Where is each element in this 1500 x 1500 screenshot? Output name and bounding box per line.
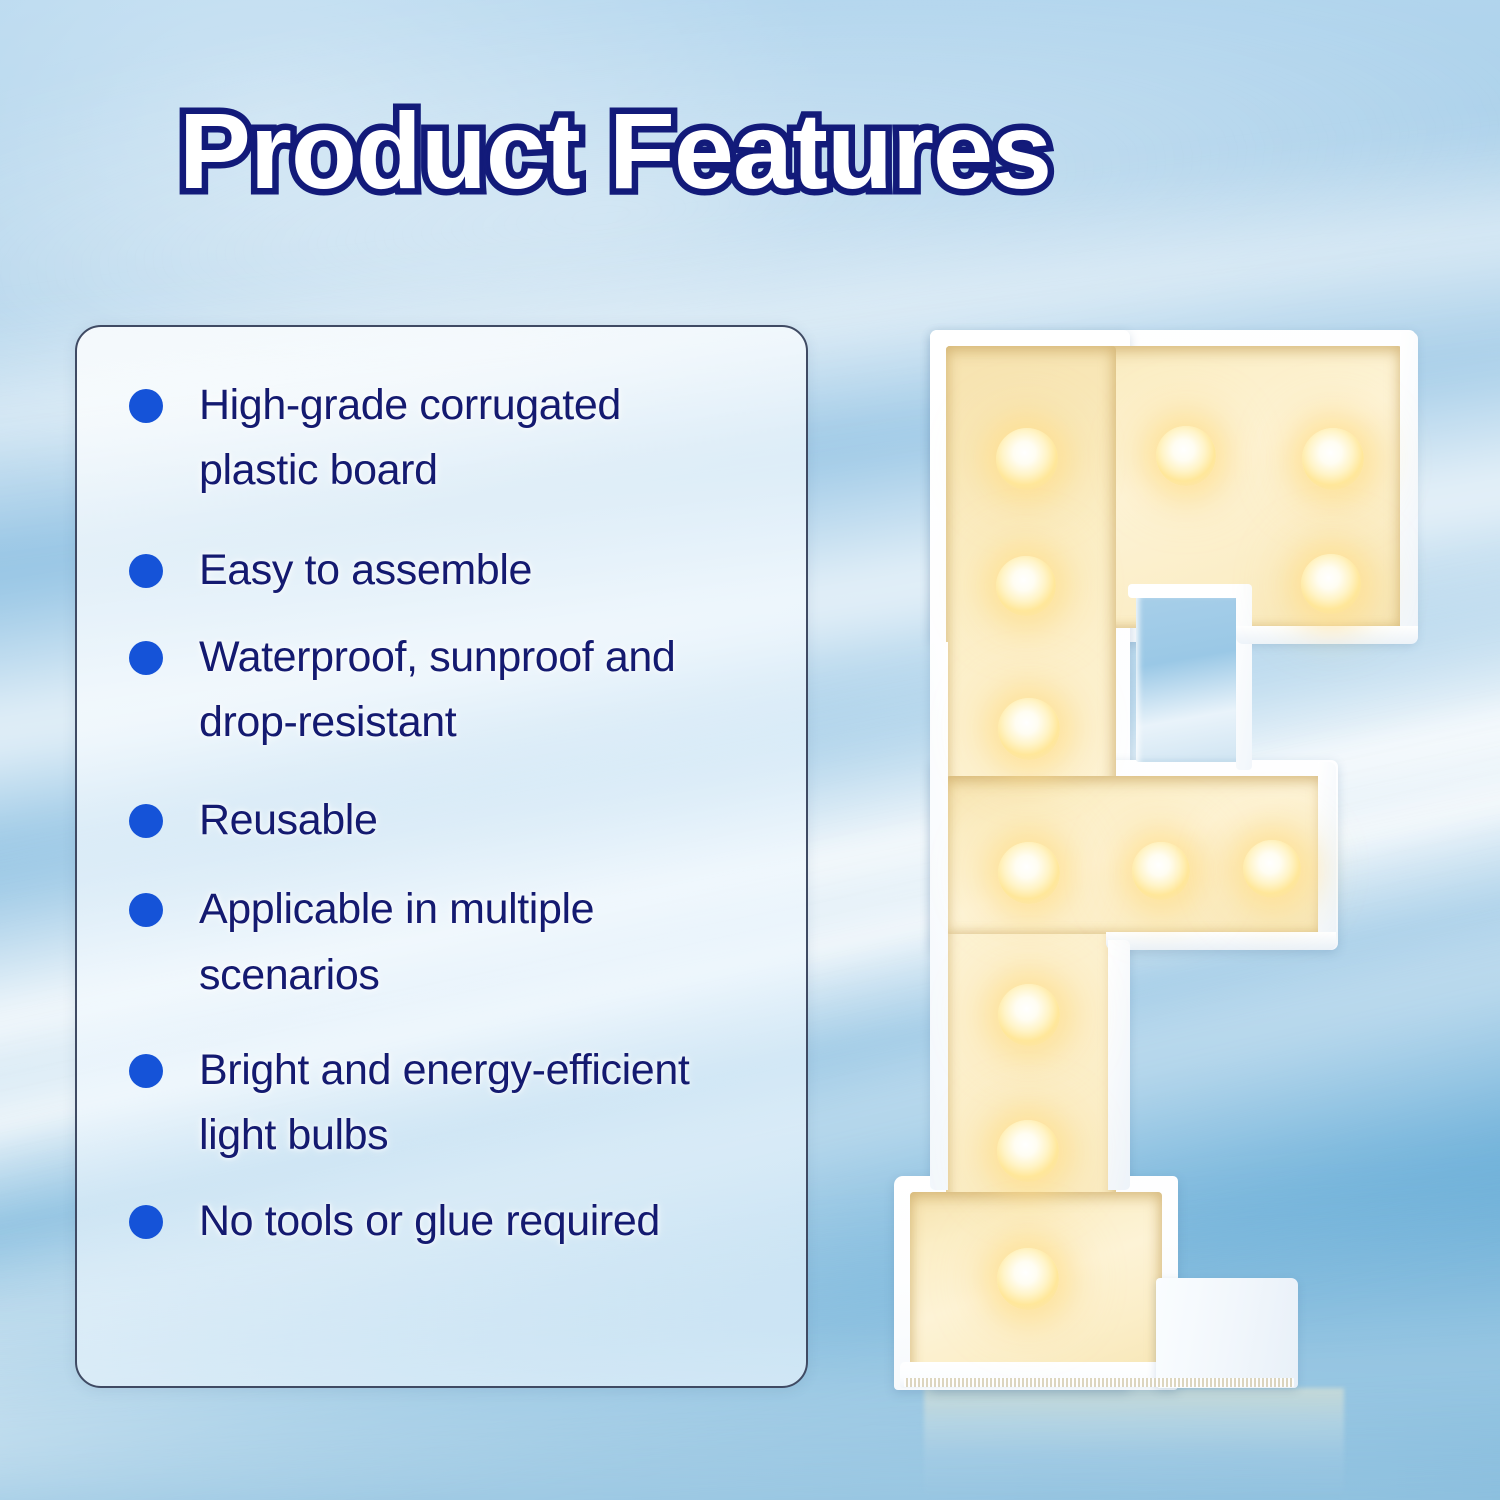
led-bulb	[1302, 428, 1364, 490]
list-item: Waterproof, sunproof and drop-resistant	[129, 625, 778, 756]
product-base-block	[1156, 1278, 1298, 1388]
corrugated-edge-texture	[904, 1378, 1294, 1387]
feature-text: Applicable in multiple scenarios	[199, 877, 594, 1008]
feature-text: High-grade corrugated plastic board	[199, 373, 621, 504]
bullet-dot-icon	[129, 1205, 163, 1239]
led-bulb	[998, 842, 1060, 904]
led-bulb	[996, 556, 1056, 616]
list-item: High-grade corrugated plastic board	[129, 373, 778, 504]
led-bulb	[997, 1120, 1059, 1182]
letter-notch-rim-right	[1236, 584, 1252, 770]
list-item: Easy to assemble	[129, 538, 778, 603]
background-scene: Product Features High-grade corrugated p…	[0, 0, 1500, 1500]
letter-notch-rim	[1128, 584, 1250, 598]
led-bulb	[1301, 554, 1361, 614]
led-bulb	[1156, 426, 1216, 486]
letter-middle-arm-bottom-rim	[1106, 932, 1336, 950]
bullet-dot-icon	[129, 893, 163, 927]
feature-text: Reusable	[199, 788, 377, 853]
led-bulb	[997, 1248, 1059, 1310]
bullet-dot-icon	[129, 641, 163, 675]
bullet-dot-icon	[129, 804, 163, 838]
bullet-dot-icon	[129, 389, 163, 423]
page-title: Product Features	[0, 97, 1230, 205]
product-image-marquee-letter-f	[880, 320, 1440, 1500]
list-item: Applicable in multiple scenarios	[129, 877, 778, 1008]
led-bulb	[998, 984, 1060, 1046]
letter-stem-right-edge	[1108, 940, 1130, 1190]
led-bulb	[1132, 842, 1190, 900]
feature-list-panel: High-grade corrugated plastic board Easy…	[75, 325, 808, 1388]
letter-middle-arm-right-edge	[1318, 762, 1336, 950]
feature-text: No tools or glue required	[199, 1189, 660, 1254]
bullet-dot-icon	[129, 1054, 163, 1088]
list-item: No tools or glue required	[129, 1189, 778, 1254]
letter-top-bar-right-edge	[1400, 332, 1418, 642]
feature-text: Easy to assemble	[199, 538, 532, 603]
feature-text: Bright and energy-efficient light bulbs	[199, 1038, 689, 1169]
led-bulb	[996, 428, 1058, 490]
list-item: Bright and energy-efficient light bulbs	[129, 1038, 778, 1169]
letter-stem-left-edge	[930, 642, 948, 1190]
letter-top-bar-bottom-rim	[1236, 626, 1418, 644]
led-bulb	[1243, 840, 1301, 898]
letter-top-notch	[1136, 592, 1242, 762]
feature-text: Waterproof, sunproof and drop-resistant	[199, 625, 675, 756]
led-bulb	[998, 698, 1060, 760]
bullet-dot-icon	[129, 554, 163, 588]
product-reflection	[924, 1388, 1344, 1500]
list-item: Reusable	[129, 788, 778, 853]
